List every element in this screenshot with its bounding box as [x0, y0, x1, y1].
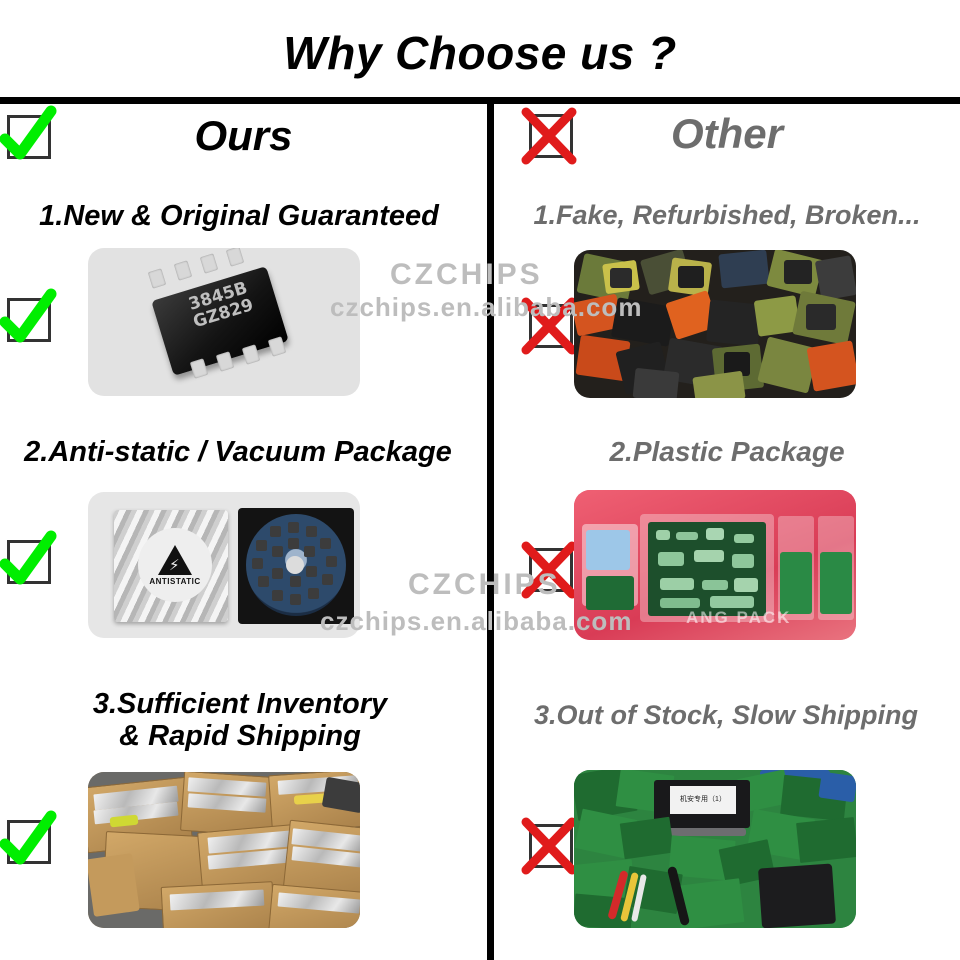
comparison-infographic: Why Choose us ? Ours Other 1.New & Origi… — [0, 0, 960, 960]
cross-icon-row-1 — [517, 294, 579, 356]
check-icon-row-3 — [0, 810, 57, 872]
row-3-image-other: 机安专用（1） — [574, 770, 856, 928]
module-label: 机安专用（1） — [670, 786, 736, 814]
cross-icon-row-2 — [517, 538, 579, 600]
page-title: Why Choose us ? — [0, 26, 960, 80]
row-3-image-ours — [88, 772, 360, 928]
row-2-image-ours: ANTISTATIC — [88, 492, 360, 638]
row-3-heading-ours: 3.Sufficient Inventory & Rapid Shipping — [10, 688, 470, 753]
column-divider-vertical — [487, 100, 494, 960]
row-1-image-other — [574, 250, 856, 398]
row-1-heading-other: 1.Fake, Refurbished, Broken... — [494, 200, 960, 230]
tape-reel — [238, 508, 354, 624]
check-icon-row-2 — [0, 530, 57, 592]
row-3-heading-ours-line-1: 3.Sufficient Inventory — [10, 688, 470, 720]
antistatic-label: ANTISTATIC — [138, 528, 212, 602]
row-2-image-other: ANG PACK — [574, 490, 856, 640]
row-1-image-ours: 3845B GZ829 — [88, 248, 360, 396]
cross-icon-header — [517, 104, 579, 166]
row-2-image-other-overlay: ANG PACK — [686, 608, 791, 628]
column-header-ours: Ours — [0, 112, 487, 160]
check-icon-row-1 — [0, 288, 57, 350]
cross-icon-row-3 — [517, 814, 579, 876]
row-2-heading-ours: 2.Anti-static / Vacuum Package — [0, 436, 476, 468]
row-3-heading-ours-line-2: & Rapid Shipping — [10, 720, 470, 752]
check-icon-header — [0, 105, 57, 167]
row-1-heading-ours: 1.New & Original Guaranteed — [4, 200, 474, 232]
antistatic-label-text: ANTISTATIC — [149, 577, 200, 586]
row-3-heading-other: 3.Out of Stock, Slow Shipping — [492, 700, 960, 730]
row-2-heading-other: 2.Plastic Package — [494, 436, 960, 467]
watermark-brand-1: CZCHIPS — [390, 258, 543, 292]
header-divider-horizontal — [0, 97, 960, 104]
esd-warning-icon — [158, 545, 192, 575]
